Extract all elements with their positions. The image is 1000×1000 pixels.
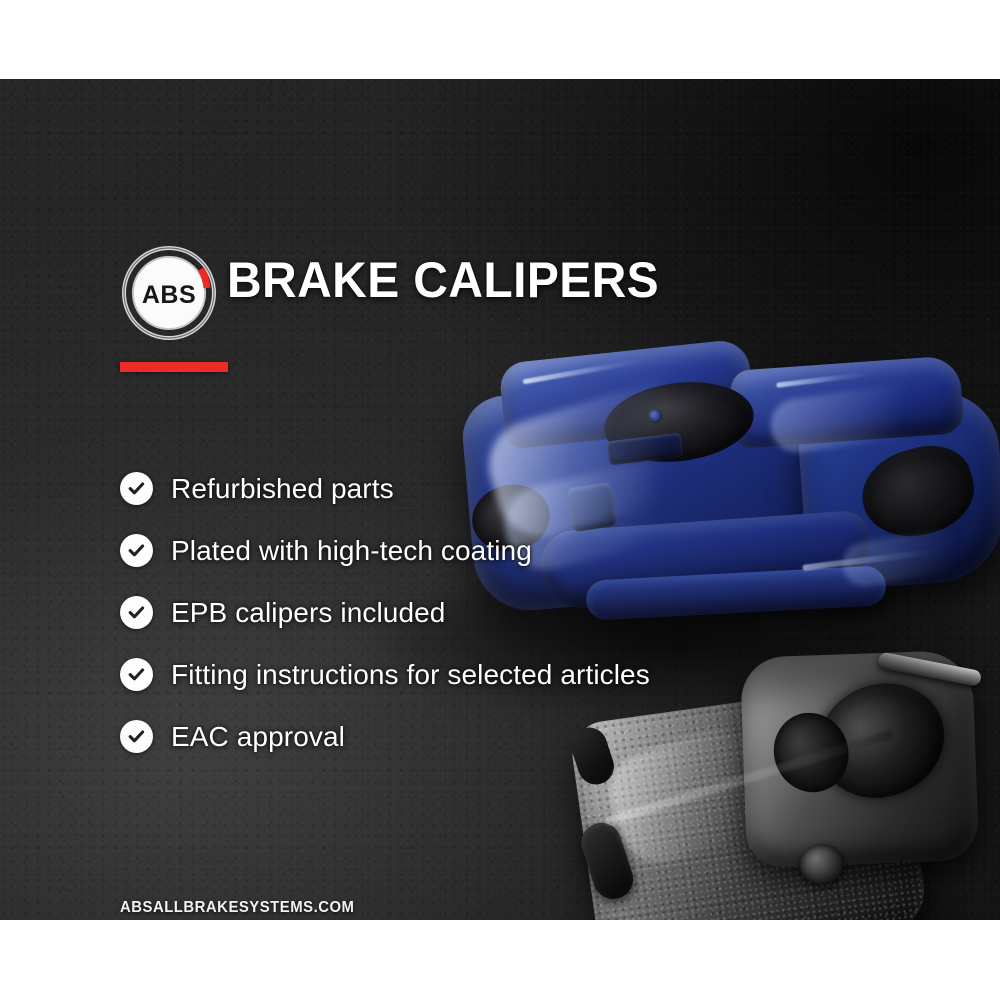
abs-circular-badge-icon: ABS <box>121 245 217 341</box>
abs-logo-text: ABS <box>142 281 196 309</box>
dark-banner-panel: ABS BRAKE CALIPERS Refurbished parts <box>0 79 1000 920</box>
list-item: Fitting instructions for selected articl… <box>120 657 650 719</box>
title-divider <box>120 362 228 372</box>
blue-caliper-machined-ridge-2 <box>776 371 872 388</box>
blue-caliper-top-block-right <box>730 355 965 449</box>
feature-label: EPB calipers included <box>171 595 445 630</box>
list-item: EPB calipers included <box>120 595 650 657</box>
blue-caliper-gloss-highlight-4 <box>839 520 994 589</box>
blue-caliper-piston-bore <box>600 374 758 470</box>
list-item: Plated with high-tech coating <box>120 533 650 595</box>
blue-caliper-engraving-plate <box>607 433 683 466</box>
blue-caliper-gloss-highlight-3 <box>767 376 963 456</box>
list-item: Refurbished parts <box>120 471 650 533</box>
blue-caliper-bleed-nipple <box>648 409 662 423</box>
grey-caliper-piston-bore <box>801 665 962 817</box>
blue-caliper-machined-ridge <box>522 359 641 385</box>
website-url[interactable]: ABSALLBRAKESYSTEMS.COM <box>120 899 354 917</box>
abs-logo[interactable]: ABS <box>121 245 217 341</box>
blue-caliper-bridge-arm <box>796 388 1000 591</box>
feature-list: Refurbished parts Plated with high-tech … <box>120 471 650 781</box>
list-item: EAC approval <box>120 719 650 781</box>
promotional-banner: ABS BRAKE CALIPERS Refurbished parts <box>0 0 1000 1000</box>
grey-caliper-shadow <box>565 850 999 920</box>
blue-caliper-window-opening <box>852 435 983 549</box>
check-circle-icon <box>120 596 153 629</box>
feature-label: Plated with high-tech coating <box>171 533 532 568</box>
grey-caliper-boot <box>576 818 638 905</box>
check-circle-icon <box>120 472 153 505</box>
page-title: BRAKE CALIPERS <box>227 249 659 311</box>
check-circle-icon <box>120 720 153 753</box>
blue-caliper-top-block <box>498 338 756 450</box>
feature-label: Fitting instructions for selected articl… <box>171 657 650 692</box>
blue-caliper-machined-ridge-3 <box>802 549 932 571</box>
feature-label: EAC approval <box>171 719 345 754</box>
grey-caliper-guide-pin <box>877 651 982 687</box>
grey-caliper-bleed-screw <box>797 841 846 887</box>
grey-caliper-secondary-bore <box>763 702 860 802</box>
check-circle-icon <box>120 658 153 691</box>
feature-label: Refurbished parts <box>171 471 394 506</box>
check-circle-icon <box>120 534 153 567</box>
grey-caliper-arm <box>740 650 979 868</box>
